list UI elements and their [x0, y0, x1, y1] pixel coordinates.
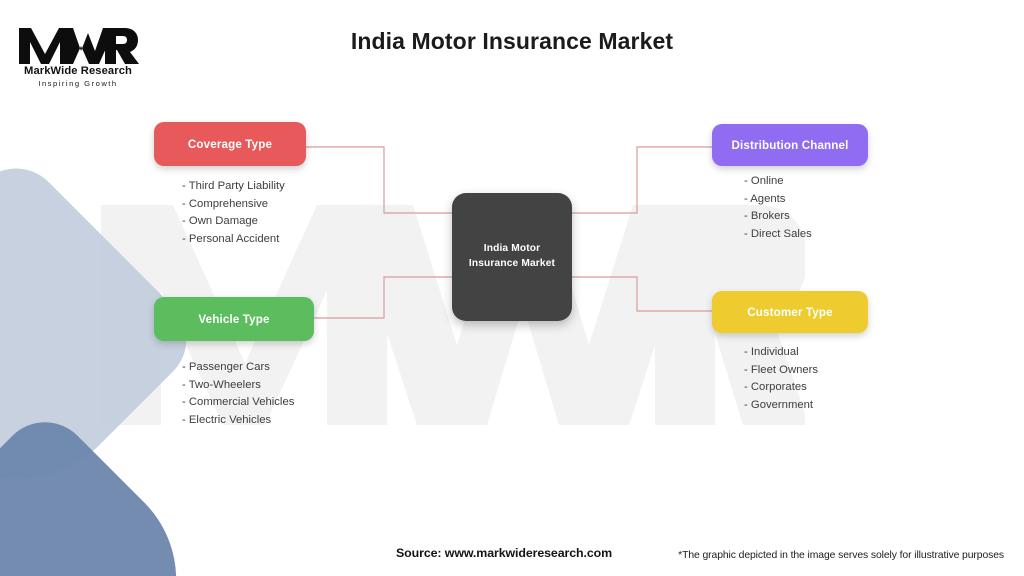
- list-item: - Individual: [744, 344, 818, 362]
- list-item: - Online: [744, 173, 812, 191]
- list-item: - Own Damage: [182, 213, 285, 231]
- connector-vehicle: [314, 277, 452, 318]
- connector-customer: [572, 277, 712, 311]
- slide-canvas: MarkWide Research Inspiring Growth India…: [0, 0, 1024, 576]
- branch-items-vehicle-type: - Passenger Cars - Two-Wheelers - Commer…: [182, 359, 294, 429]
- connector-coverage: [306, 147, 452, 213]
- connector-distribution: [572, 147, 712, 213]
- branch-label-distribution-channel: Distribution Channel: [731, 139, 848, 152]
- list-item: - Commercial Vehicles: [182, 394, 294, 412]
- branch-node-customer-type[interactable]: Customer Type: [712, 291, 868, 333]
- branch-node-coverage-type[interactable]: Coverage Type: [154, 122, 306, 166]
- list-item: - Personal Accident: [182, 231, 285, 249]
- list-item: - Brokers: [744, 208, 812, 226]
- list-item: - Government: [744, 397, 818, 415]
- branch-items-distribution-channel: - Online - Agents - Brokers - Direct Sal…: [744, 173, 812, 243]
- list-item: - Direct Sales: [744, 226, 812, 244]
- list-item: - Third Party Liability: [182, 178, 285, 196]
- disclaimer-text: *The graphic depicted in the image serve…: [678, 550, 1004, 561]
- center-node-line1: India Motor: [484, 242, 541, 257]
- branch-label-coverage-type: Coverage Type: [188, 138, 272, 151]
- list-item: - Comprehensive: [182, 196, 285, 214]
- branch-node-vehicle-type[interactable]: Vehicle Type: [154, 297, 314, 341]
- list-item: - Electric Vehicles: [182, 412, 294, 430]
- list-item: - Corporates: [744, 379, 818, 397]
- center-node-line2: Insurance Market: [469, 257, 555, 272]
- branch-items-customer-type: - Individual - Fleet Owners - Corporates…: [744, 344, 818, 414]
- list-item: - Two-Wheelers: [182, 377, 294, 395]
- branch-label-customer-type: Customer Type: [747, 306, 832, 319]
- branch-label-vehicle-type: Vehicle Type: [198, 313, 269, 326]
- center-node[interactable]: India Motor Insurance Market: [452, 193, 572, 321]
- source-text: Source: www.markwideresearch.com: [396, 546, 612, 560]
- branch-node-distribution-channel[interactable]: Distribution Channel: [712, 124, 868, 166]
- list-item: - Fleet Owners: [744, 362, 818, 380]
- list-item: - Passenger Cars: [182, 359, 294, 377]
- branch-items-coverage-type: - Third Party Liability - Comprehensive …: [182, 178, 285, 248]
- list-item: - Agents: [744, 191, 812, 209]
